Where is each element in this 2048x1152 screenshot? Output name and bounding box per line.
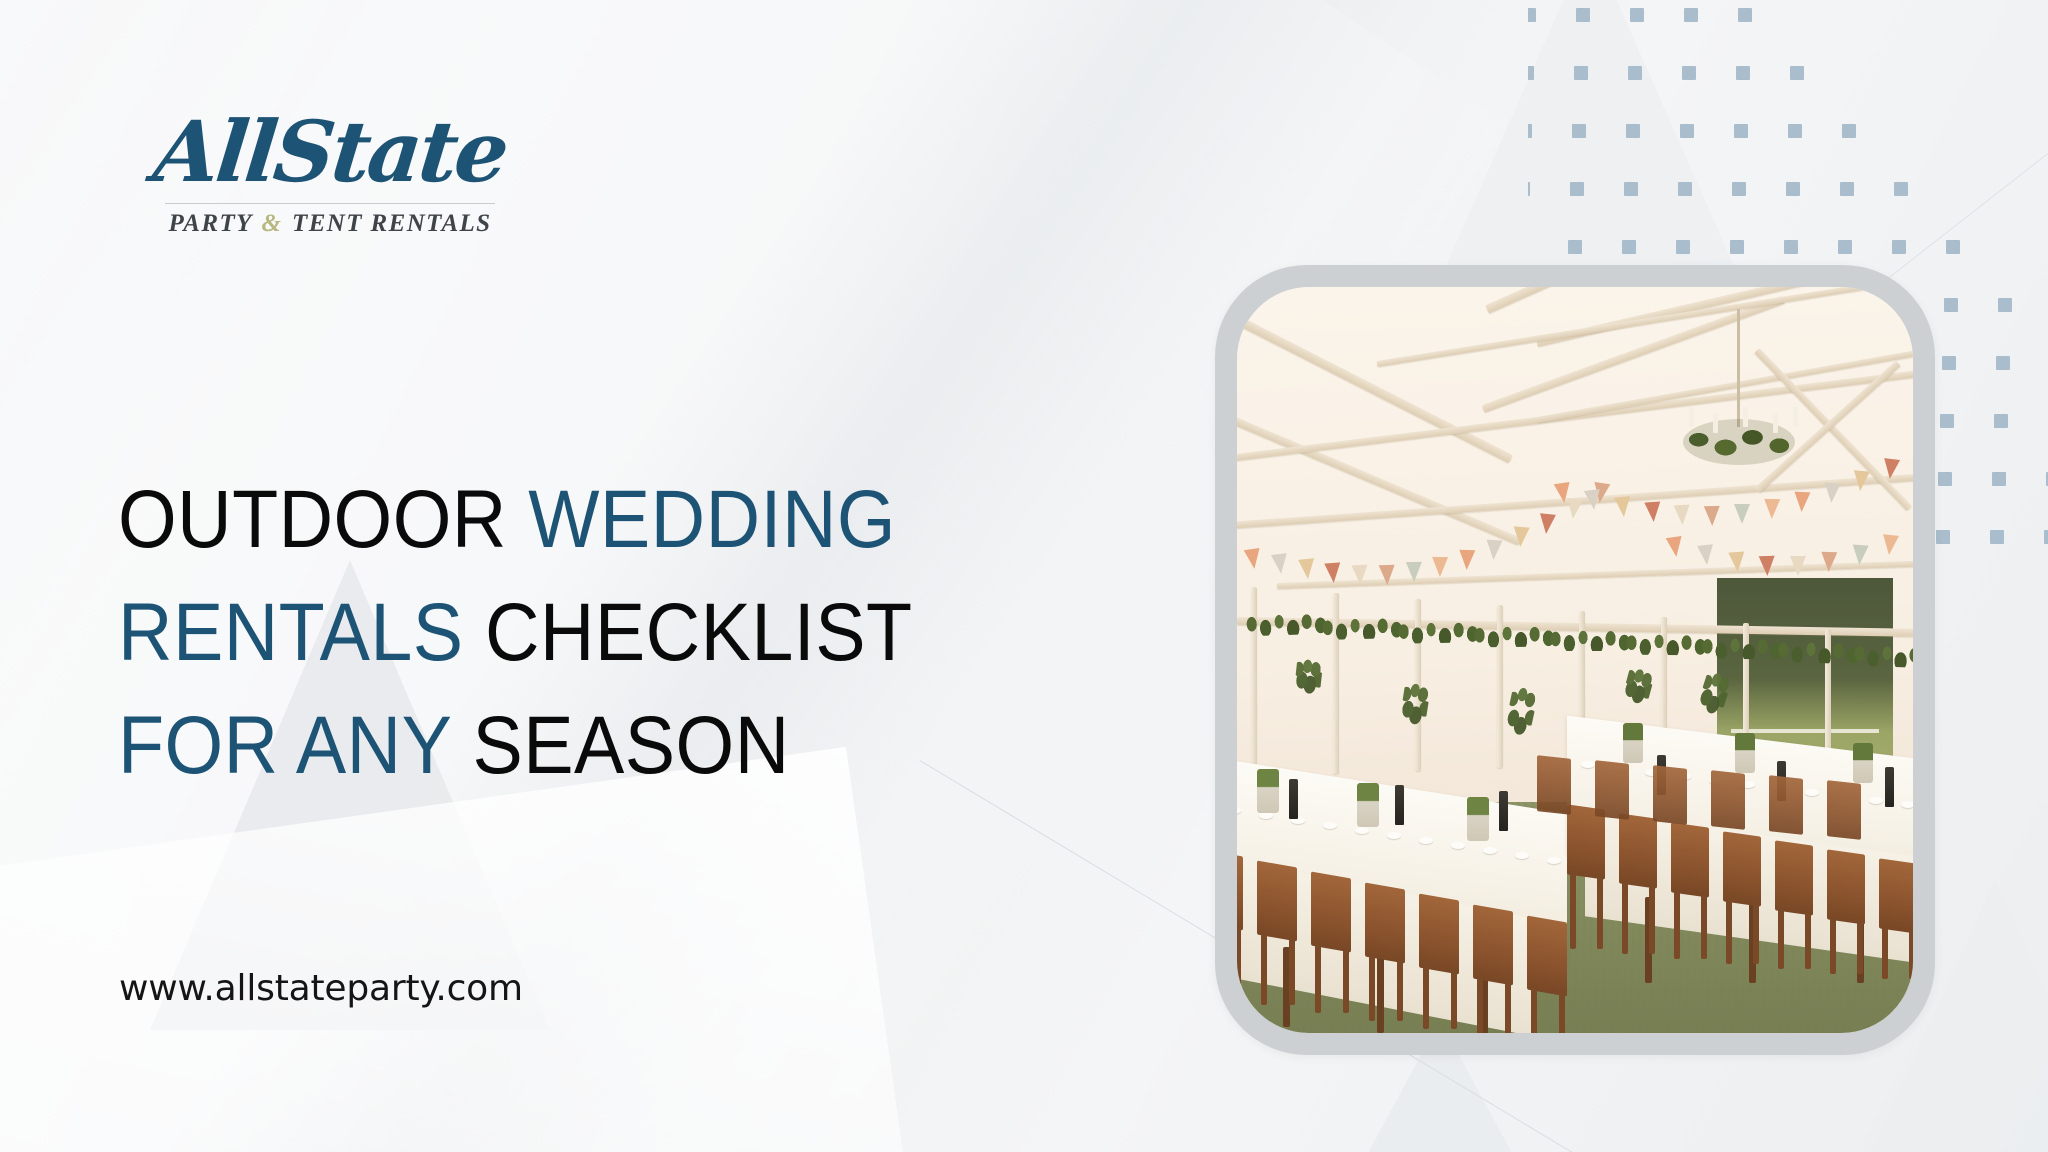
- bunting-flag: [1852, 471, 1870, 492]
- folding-chair: [1879, 858, 1913, 933]
- allstate-logo[interactable]: AllState PARTY & TENT RENTALS: [150, 112, 510, 238]
- headline-word-checklist: CHECKLIST: [485, 587, 913, 678]
- dot-grid-dot: [1734, 124, 1748, 138]
- logo-ampersand: &: [260, 210, 285, 237]
- dot-grid-dot: [1738, 8, 1752, 22]
- bunting-flag: [1352, 564, 1369, 585]
- chair-leg: [1909, 931, 1913, 979]
- dot-grid-dot: [1788, 124, 1802, 138]
- chair-leg: [1237, 927, 1241, 997]
- chair-leg: [1505, 982, 1511, 1033]
- dot-grid-dot: [1996, 356, 2010, 370]
- folding-chair: [1473, 904, 1513, 985]
- bunting-flag: [1881, 534, 1899, 556]
- chair-leg: [1622, 882, 1628, 954]
- chair-leg: [1315, 945, 1321, 1013]
- chandelier-candle: [1713, 413, 1718, 433]
- chair-leg: [1423, 967, 1429, 1029]
- bunting-flag: [1271, 554, 1289, 576]
- bunting-flag: [1432, 557, 1448, 577]
- flower-centerpiece: [1467, 797, 1489, 841]
- bunting-flag: [1459, 549, 1476, 570]
- bunting-flag: [1379, 564, 1396, 585]
- folding-chair: [1769, 775, 1803, 835]
- dot-grid-row: [1528, 8, 1792, 22]
- logo-wordmark: AllState: [146, 112, 514, 193]
- chair-leg: [1701, 895, 1707, 959]
- bunting-flag: [1728, 551, 1745, 572]
- dot-grid-dot: [1576, 8, 1590, 22]
- folding-chair: [1311, 871, 1351, 952]
- greenery-garland: [1319, 608, 1406, 640]
- bunting-flag: [1614, 496, 1632, 517]
- bunting-flag: [1554, 482, 1573, 504]
- place-setting: [1581, 761, 1595, 768]
- wine-bottle: [1289, 779, 1298, 819]
- dot-grid-dot: [1942, 356, 1956, 370]
- headline-word-for-any: FOR ANY: [118, 700, 472, 791]
- place-setting: [1515, 852, 1529, 859]
- chair-leg: [1369, 956, 1375, 1021]
- dot-grid-dot: [1628, 66, 1642, 80]
- chair-leg: [1261, 934, 1267, 1005]
- folding-chair: [1419, 893, 1459, 974]
- place-setting: [1901, 801, 1913, 808]
- flower-centerpiece: [1735, 733, 1755, 773]
- flower-centerpiece: [1257, 769, 1279, 813]
- bunting-flag: [1790, 556, 1806, 576]
- bunting-flag: [1851, 544, 1868, 565]
- logo-tagline-before: PARTY: [168, 210, 259, 237]
- hero-image-frame: Interior of an outdoor wedding marquee t…: [1215, 265, 1935, 1055]
- flower-centerpiece: [1357, 783, 1379, 827]
- dot-grid-dot: [1786, 182, 1800, 196]
- wine-bottle: [1499, 791, 1508, 831]
- logo-tagline-after: TENT RENTALS: [284, 210, 491, 237]
- headline-word-outdoor: OUTDOOR: [118, 474, 528, 565]
- chandelier-candle: [1689, 407, 1694, 427]
- folding-chair: [1775, 840, 1813, 915]
- dot-grid-row: [1528, 66, 1844, 80]
- bunting-flag: [1764, 499, 1780, 519]
- place-setting: [1387, 832, 1401, 839]
- bunting-flag: [1759, 555, 1776, 576]
- chair-leg: [1778, 909, 1784, 969]
- bunting-flag: [1406, 562, 1422, 582]
- dot-grid-dot: [1736, 66, 1750, 80]
- wine-bottle: [1395, 785, 1404, 825]
- dot-grid-dot: [1936, 530, 1950, 544]
- flower-centerpiece: [1853, 743, 1873, 783]
- chair-leg: [1570, 873, 1576, 949]
- place-setting: [1483, 847, 1497, 854]
- dot-grid-dot: [1630, 8, 1644, 22]
- bunting-flag: [1325, 562, 1342, 583]
- bunting-flag: [1244, 548, 1263, 570]
- dot-grid-row: [1528, 240, 2000, 254]
- bunting-flag: [1644, 501, 1661, 522]
- chair-leg: [1397, 960, 1403, 1021]
- logo-tagline: PARTY & TENT RENTALS: [150, 210, 510, 238]
- dot-grid-dot: [1994, 414, 2008, 428]
- folding-chair: [1653, 765, 1687, 825]
- folding-chair: [1827, 849, 1865, 924]
- dot-grid-dot: [1998, 298, 2012, 312]
- folding-chair: [1595, 760, 1629, 820]
- folding-chair: [1619, 813, 1657, 888]
- flower-centerpiece: [1623, 723, 1643, 763]
- banner-canvas: AllState PARTY & TENT RENTALS OUTDOOR WE…: [0, 0, 2048, 1152]
- dot-grid-dot: [1840, 182, 1854, 196]
- dot-grid-dot: [1570, 182, 1584, 196]
- bunting-flag: [1584, 489, 1602, 511]
- dot-grid-dot: [1894, 182, 1908, 196]
- headline-line-2: RENTALS CHECKLIST: [118, 576, 1038, 689]
- table-leg: [1377, 957, 1384, 1033]
- greenery-garland: [1547, 621, 1633, 651]
- folding-chair: [1365, 882, 1405, 963]
- folding-chair: [1257, 860, 1297, 941]
- dot-grid-dot: [1574, 66, 1588, 80]
- bunting-flag: [1704, 506, 1720, 526]
- chair-leg: [1726, 900, 1732, 964]
- folding-chair: [1237, 849, 1243, 930]
- dot-grid-dot: [1682, 66, 1696, 80]
- bunting-flag: [1820, 552, 1837, 573]
- dot-grid-dot: [1944, 298, 1958, 312]
- dot-grid-dot: [1572, 124, 1586, 138]
- chair-leg: [1857, 922, 1863, 974]
- folding-chair: [1527, 915, 1567, 996]
- chair-leg: [1649, 886, 1655, 954]
- chair-leg: [1343, 949, 1349, 1013]
- bunting-flag: [1539, 513, 1557, 534]
- headline-word-wedding: WEDDING: [528, 474, 896, 565]
- folding-chair: [1537, 755, 1571, 815]
- chair-leg: [1289, 938, 1295, 1005]
- chair-leg: [1531, 989, 1537, 1033]
- dot-grid-dot: [1732, 182, 1746, 196]
- place-setting: [1419, 837, 1433, 844]
- dot-grid-row: [1528, 182, 1948, 196]
- logo-divider-rule: [165, 203, 495, 204]
- chandelier-foliage: [1683, 419, 1795, 465]
- dot-grid-dot: [1938, 472, 1952, 486]
- headline-word-rentals: RENTALS: [118, 587, 485, 678]
- dot-grid-row: [1528, 124, 1896, 138]
- dot-grid-dot: [1992, 472, 2006, 486]
- dot-grid-dot: [1528, 124, 1532, 138]
- wedding-tent-photo: Interior of an outdoor wedding marquee t…: [1237, 287, 1913, 1033]
- dot-grid-dot: [1528, 8, 1536, 22]
- dot-grid-dot: [1892, 240, 1906, 254]
- dot-grid-dot: [1784, 240, 1798, 254]
- chair-leg: [1451, 971, 1457, 1029]
- chandelier-candle: [1793, 407, 1798, 427]
- folding-chair: [1711, 770, 1745, 830]
- page-title: OUTDOOR WEDDING RENTALS CHECKLIST FOR AN…: [118, 463, 1118, 802]
- dot-grid-dot: [1680, 124, 1694, 138]
- chair-leg: [1597, 877, 1603, 949]
- dot-grid-dot: [1940, 414, 1954, 428]
- folding-chair: [1827, 780, 1861, 840]
- bunting-flag: [1793, 492, 1810, 513]
- bunting-flag: [1674, 505, 1691, 526]
- place-setting: [1805, 789, 1819, 796]
- dot-grid-dot: [2044, 530, 2048, 544]
- dot-grid-dot: [1946, 240, 1960, 254]
- chair-leg: [1674, 891, 1680, 959]
- place-setting: [1323, 822, 1337, 829]
- dot-grid-dot: [1678, 182, 1692, 196]
- headline-line-1: OUTDOOR WEDDING: [118, 463, 1038, 576]
- dot-grid-dot: [1624, 182, 1638, 196]
- chair-leg: [1477, 978, 1483, 1033]
- bunting-flag: [1734, 504, 1750, 524]
- folding-chair: [1723, 831, 1761, 906]
- chair-leg: [1805, 913, 1811, 969]
- place-setting: [1547, 857, 1561, 864]
- headline-word-season: SEASON: [472, 700, 789, 791]
- folding-chair: [1671, 822, 1709, 897]
- dot-grid-dot: [1622, 240, 1636, 254]
- bunting-flag: [1298, 559, 1316, 580]
- chandelier-candle: [1773, 413, 1778, 433]
- place-setting: [1869, 797, 1883, 804]
- dot-grid-dot: [1676, 240, 1690, 254]
- bunting-flag: [1485, 539, 1502, 560]
- bunting-flag: [1823, 482, 1840, 503]
- dot-grid-dot: [1568, 240, 1582, 254]
- greenery-garland: [1775, 632, 1862, 664]
- bunting-flag: [1512, 527, 1529, 548]
- place-setting: [1259, 812, 1273, 819]
- bunting-flag: [1882, 458, 1900, 480]
- chair-leg: [1559, 993, 1565, 1033]
- headline-line-3: FOR ANY SEASON: [118, 689, 1038, 802]
- chair-leg: [1830, 918, 1836, 974]
- dot-grid-dot: [1684, 8, 1698, 22]
- dot-grid-dot: [1626, 124, 1640, 138]
- website-url[interactable]: www.allstateparty.com: [119, 968, 523, 1009]
- chair-leg: [1882, 927, 1888, 979]
- bunting-flag: [1666, 536, 1685, 558]
- dot-grid-dot: [1730, 240, 1744, 254]
- chandelier-rod: [1737, 309, 1740, 427]
- bunting-flag: [1697, 544, 1715, 566]
- wine-bottle: [1885, 767, 1894, 807]
- chandelier-candle: [1743, 407, 1748, 427]
- chair-leg: [1753, 904, 1759, 964]
- dot-grid-dot: [1842, 124, 1856, 138]
- dot-grid-dot: [1990, 530, 2004, 544]
- greenery-garland: [1851, 636, 1913, 669]
- place-setting: [1451, 842, 1465, 849]
- dot-grid-dot: [1790, 66, 1804, 80]
- dot-grid-dot: [1528, 66, 1534, 80]
- place-setting: [1355, 827, 1369, 834]
- dot-grid-dot: [1838, 240, 1852, 254]
- dot-grid-dot: [1528, 182, 1530, 196]
